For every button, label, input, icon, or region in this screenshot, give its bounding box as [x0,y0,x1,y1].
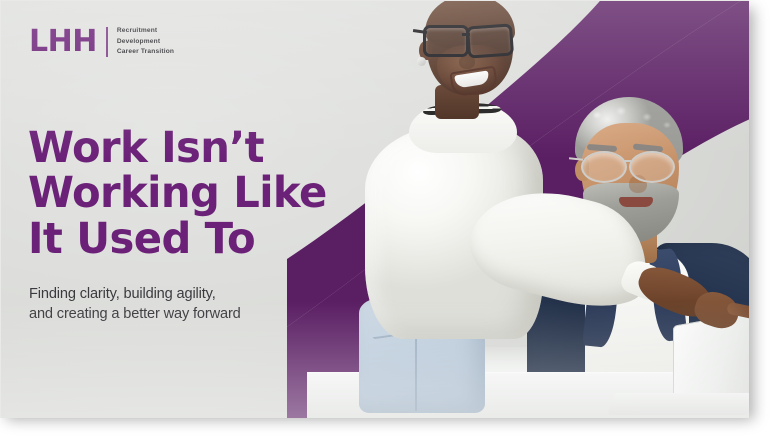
subtitle: Finding clarity, building agility, and c… [29,284,329,325]
slide-card: LHH Recruitment Development Career Trans… [0,0,749,418]
slide-canvas: LHH Recruitment Development Career Trans… [0,0,780,439]
woman-eyeglasses [423,25,519,53]
logo-divider-rule [106,27,108,57]
headline-line-3: It Used To [28,217,319,263]
woman-lens-right [466,23,514,58]
headline-line-1: Work Isn’t [28,126,319,172]
subtitle-line-1: Finding clarity, building agility, [29,284,329,305]
logo-tagline-line-1: Recruitment [117,27,157,34]
subtitle-line-2: and creating a better way forward [29,304,329,325]
man-lens-right [629,151,675,183]
logo-tagline-line-2: Development [117,38,160,45]
page-title: Work Isn’t Working Like It Used To [28,126,319,263]
lhh-logo: LHH Recruitment Development Career Trans… [29,26,174,58]
woman-glasses-bridge [462,33,470,36]
logo-tagline: Recruitment Development Career Transitio… [117,26,174,58]
standing-woman-figure [331,1,601,389]
man-mouth [619,197,653,207]
man-glasses-bridge [623,160,631,162]
woman-lens-left [423,25,469,57]
logo-tagline-line-3: Career Transition [117,48,174,55]
hero-photograph [287,1,749,418]
headline-line-2: Working Like [28,171,319,217]
laptop-keyboard-base [607,393,749,415]
lhh-wordmark: LHH [29,27,97,57]
woman-glasses-temple [413,29,427,34]
woman-earring [417,57,426,66]
